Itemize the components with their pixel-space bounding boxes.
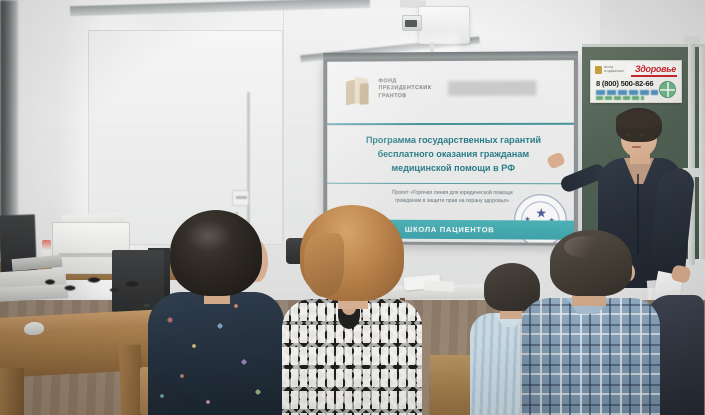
wall-left-edge: [0, 0, 18, 250]
slide-header-divider: [327, 123, 574, 125]
attendee-blonde-chevron-top: [282, 205, 422, 415]
slide-title-line-1: Программа государственных гарантий: [341, 133, 567, 147]
poster-org-text: ФОНД ПОДДЕРЖКИ: [604, 66, 624, 73]
slide-title-line-2: бесплатного оказания гражданам: [341, 147, 567, 161]
fund-logo-text: ФОНД ПРЕЗИДЕНТСКИХ ГРАНТОВ: [378, 78, 431, 100]
presenter-eye-left: [627, 134, 631, 136]
slide-header: ФОНД ПРЕЗИДЕНТСКИХ ГРАНТОВ: [327, 60, 574, 123]
attendee-1-torso: [148, 292, 284, 415]
attendee-plaid-shirt: [520, 230, 660, 415]
presenter-mouth: [632, 146, 641, 148]
presenter-eye-right: [640, 134, 644, 136]
attendee-dark-hair-floral-top: [148, 210, 284, 415]
poster-brand-underline: [631, 75, 677, 77]
photo-scene: ФОНД ПРЕЗИДЕНТСКИХ ГРАНТОВ Программа гос…: [0, 0, 705, 415]
presenter-fringe: [616, 110, 660, 128]
presidential-grants-fund-logo-icon: [346, 77, 374, 107]
poster-fund-icon: [595, 66, 602, 74]
redaction-bar: [448, 81, 536, 96]
table-papers-secondary: [424, 280, 454, 292]
globe-icon: [659, 81, 676, 98]
pole-cap: [683, 36, 700, 44]
poster-url-line-2: [596, 96, 644, 100]
attendee-4-hair-highlight: [564, 236, 604, 258]
attendee-2-hair-side: [304, 233, 344, 297]
projector-lens-icon: [402, 15, 422, 31]
hotline-poster: ФОНД ПОДДЕРЖКИ Здоровье 8 (800) 500-82-6…: [590, 60, 682, 103]
slide-title: Программа государственных гарантий беспл…: [341, 133, 567, 176]
attendee-1-hair-highlight: [186, 220, 232, 252]
poster-brand-label: Здоровье: [635, 64, 676, 74]
poster-phone-number: 8 (800) 500-82-66: [596, 79, 653, 88]
chalkboard-frame: [699, 47, 705, 259]
slide-title-line-3: медицинской помощи в РФ: [341, 161, 567, 175]
desk-leg: [0, 368, 24, 415]
poster-url-line-1: [596, 90, 658, 95]
attendee-4-shading: [520, 298, 660, 415]
wall-socket[interactable]: [232, 190, 249, 206]
slide-title-divider: [327, 183, 574, 185]
